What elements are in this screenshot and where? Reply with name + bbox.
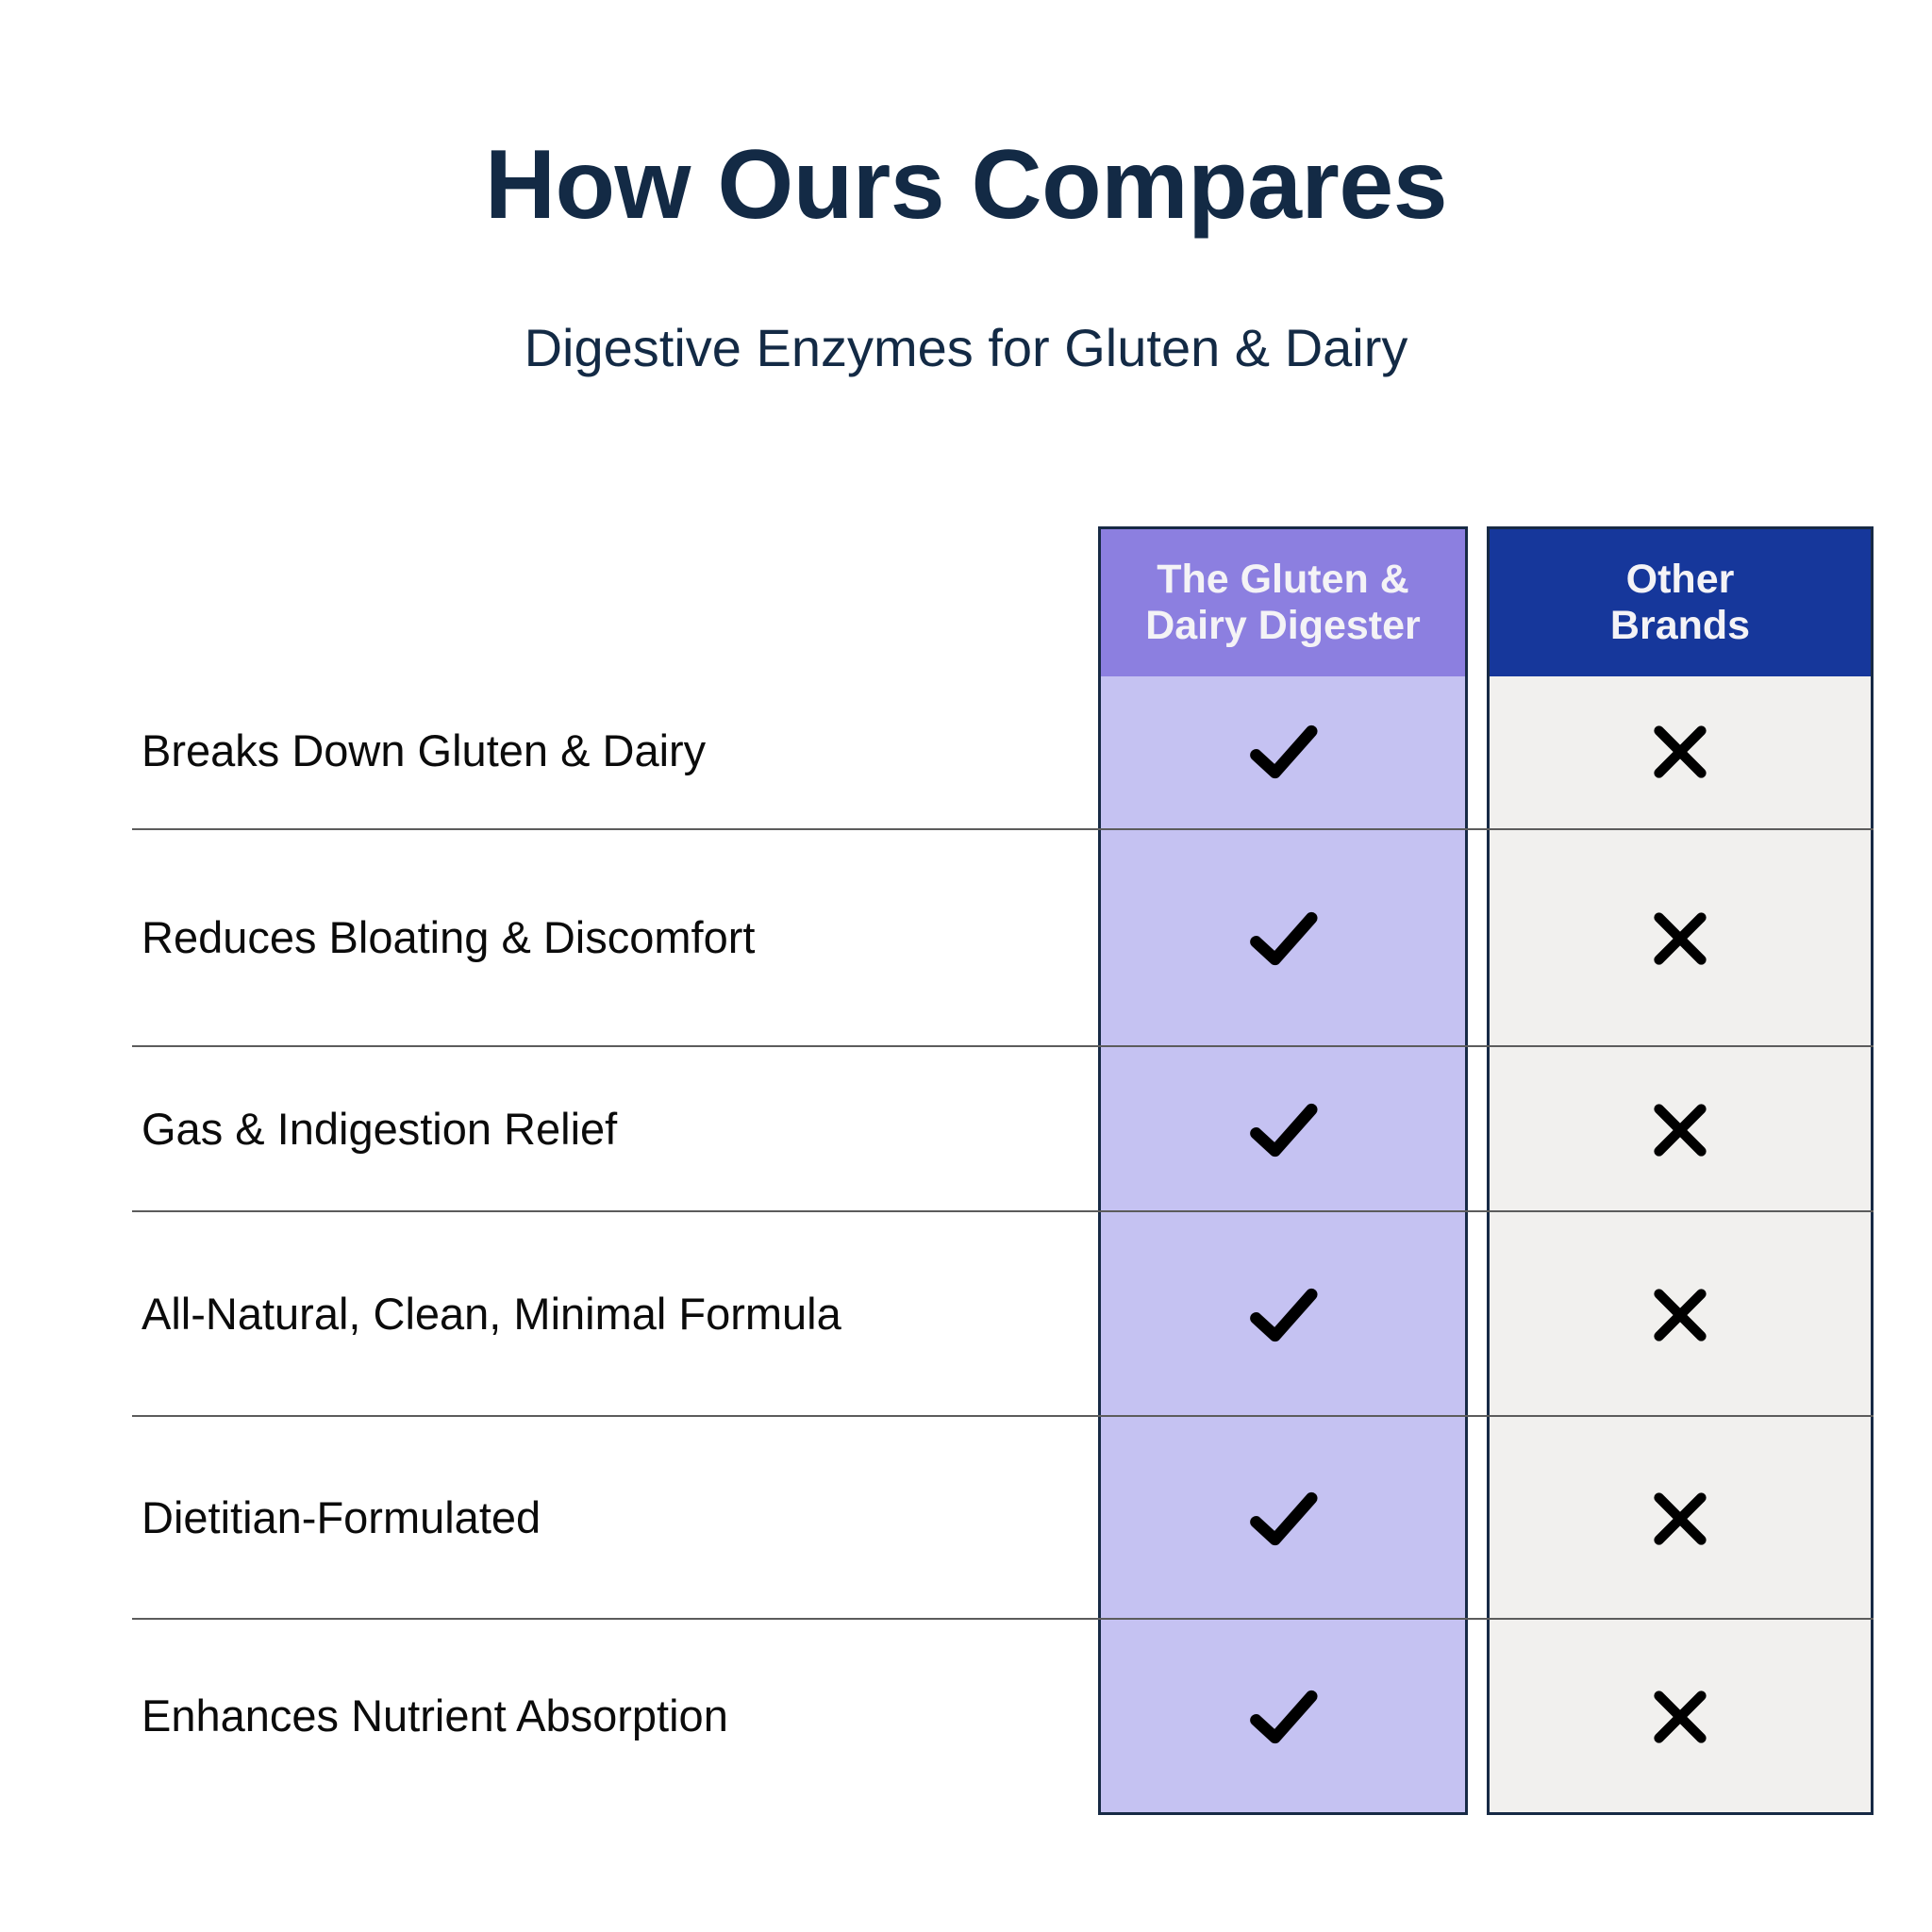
cross-icon xyxy=(1647,719,1713,785)
cell-mark-other-brands xyxy=(1487,1078,1874,1182)
feature-label: Reduces Bloating & Discomfort xyxy=(142,912,1085,963)
cell-mark-ours xyxy=(1098,700,1468,804)
cross-icon xyxy=(1647,1684,1713,1750)
column-header-other-brands: Other Brands xyxy=(1490,529,1871,676)
column-header-ours: The Gluten & Dairy Digester xyxy=(1101,529,1465,676)
cell-mark-ours xyxy=(1098,1263,1468,1367)
cross-icon xyxy=(1647,1282,1713,1348)
row-divider xyxy=(132,1618,1874,1620)
cell-mark-ours xyxy=(1098,1467,1468,1571)
row-divider xyxy=(132,1210,1874,1212)
cell-mark-ours xyxy=(1098,1665,1468,1769)
cell-mark-other-brands xyxy=(1487,1665,1874,1769)
comparison-table: The Gluten & Dairy Digester Other Brands… xyxy=(0,0,1932,1932)
cell-mark-ours xyxy=(1098,1078,1468,1182)
check-icon xyxy=(1243,1091,1323,1170)
column-header-ours-line1: The Gluten & xyxy=(1145,557,1421,603)
cell-mark-other-brands xyxy=(1487,887,1874,991)
row-divider xyxy=(132,1415,1874,1417)
check-icon xyxy=(1243,899,1323,978)
column-header-other-brands-line2: Brands xyxy=(1610,603,1750,649)
check-icon xyxy=(1243,1479,1323,1558)
comparison-graphic: How Ours Compares Digestive Enzymes for … xyxy=(0,0,1932,1932)
feature-label-column: Breaks Down Gluten & DairyReduces Bloati… xyxy=(142,526,1085,1815)
cross-icon xyxy=(1647,1486,1713,1552)
check-icon xyxy=(1243,1677,1323,1757)
cell-mark-ours xyxy=(1098,887,1468,991)
row-divider xyxy=(132,828,1874,830)
cell-mark-other-brands xyxy=(1487,700,1874,804)
feature-label: All-Natural, Clean, Minimal Formula xyxy=(142,1289,1085,1340)
column-header-other-brands-line1: Other xyxy=(1610,557,1750,603)
cross-icon xyxy=(1647,906,1713,972)
column-header-ours-line2: Dairy Digester xyxy=(1145,603,1421,649)
feature-label: Gas & Indigestion Relief xyxy=(142,1104,1085,1155)
cell-mark-other-brands xyxy=(1487,1263,1874,1367)
feature-label: Breaks Down Gluten & Dairy xyxy=(142,725,1085,776)
cell-mark-other-brands xyxy=(1487,1467,1874,1571)
check-icon xyxy=(1243,1275,1323,1355)
feature-label: Enhances Nutrient Absorption xyxy=(142,1690,1085,1741)
feature-label: Dietitian-Formulated xyxy=(142,1492,1085,1543)
check-icon xyxy=(1243,712,1323,791)
row-divider xyxy=(132,1045,1874,1047)
cross-icon xyxy=(1647,1097,1713,1163)
